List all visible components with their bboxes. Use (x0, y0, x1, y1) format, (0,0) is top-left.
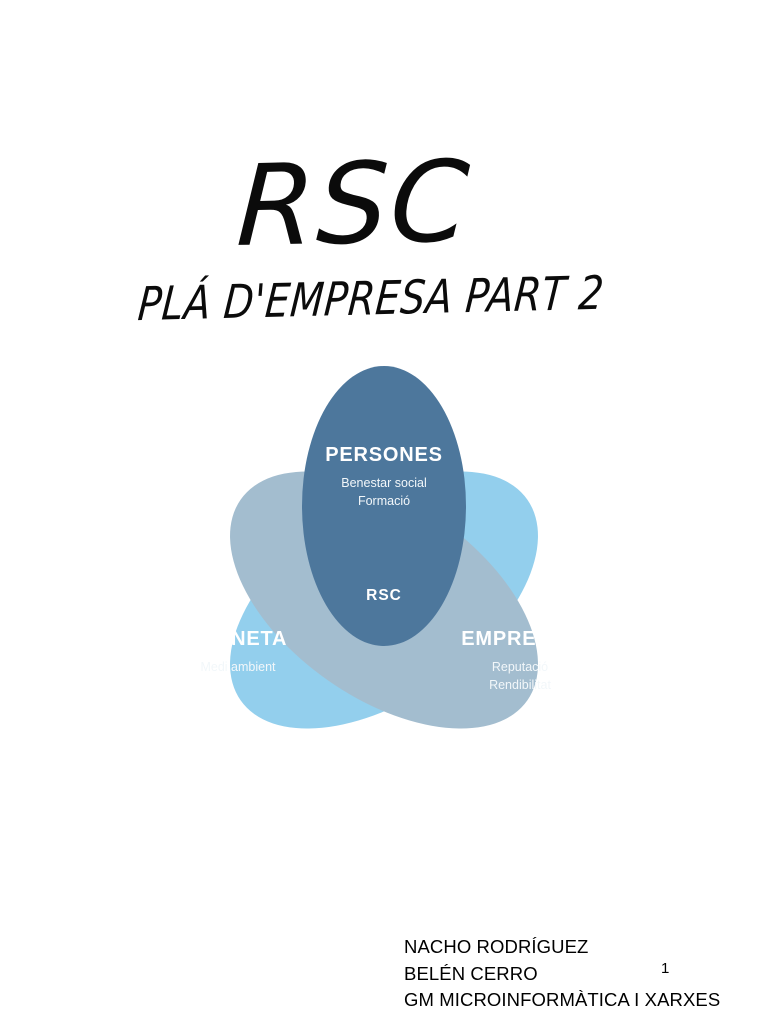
page-title: RSC (0, 140, 768, 268)
page-number: 1 (661, 960, 669, 977)
venn-ellipse-persones (302, 366, 466, 646)
footer-course: GM MICROINFORMÀTICA I XARXES (404, 987, 720, 1014)
page-subtitle: PLÁ D'EMPRESA PART 2 (0, 267, 768, 332)
footer-author-1: NACHO RODRÍGUEZ (404, 934, 720, 961)
page-footer: NACHO RODRÍGUEZ BELÉN CERRO GM MICROINFO… (0, 934, 768, 1024)
footer-author-2: BELÉN CERRO (404, 961, 720, 988)
footer-author-block: NACHO RODRÍGUEZ BELÉN CERRO GM MICROINFO… (404, 934, 720, 1014)
venn-diagram-shapes (96, 366, 672, 746)
document-page: RSC PLÁ D'EMPRESA PART 2 PERSONES Benest… (0, 0, 768, 1024)
venn-diagram: PERSONES Benestar social Formació PLANET… (96, 366, 672, 746)
title-block: RSC PLÁ D'EMPRESA PART 2 (0, 148, 768, 321)
